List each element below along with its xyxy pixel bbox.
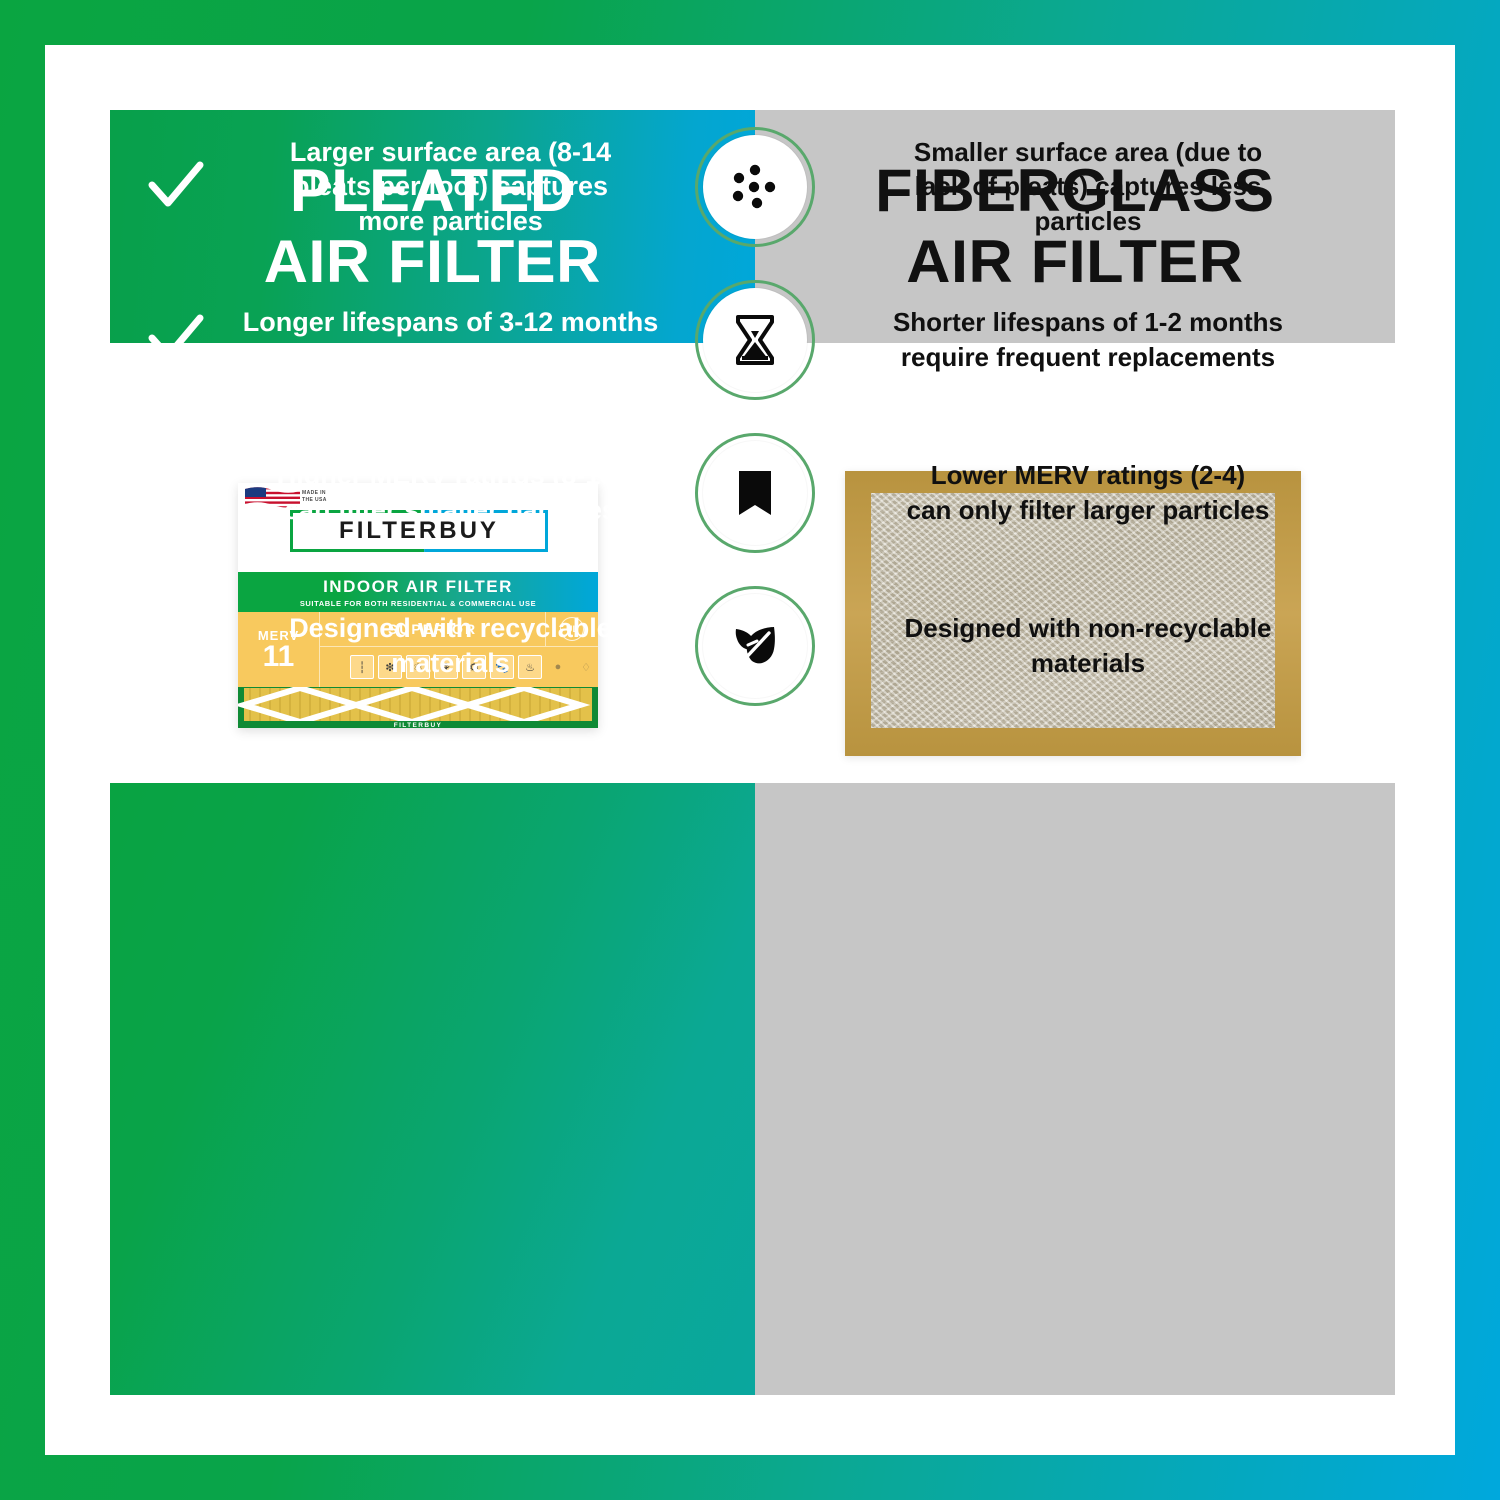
infographic-frame: PLEATED AIR FILTER FIBERGLASS AIR FILTER xyxy=(45,45,1455,1455)
row-1-fiberglass-text: Smaller surface area (due to lack of ple… xyxy=(914,135,1262,238)
row-4-pleated-cell: Designed with recyclable materials xyxy=(110,569,755,722)
checkmark-icon xyxy=(140,310,212,370)
row-4-fiberglass-cell: Designed with non-recyclable materials xyxy=(755,569,1395,722)
infographic-stage: PLEATED AIR FILTER FIBERGLASS AIR FILTER xyxy=(110,110,1395,1395)
hourglass-icon xyxy=(703,288,807,392)
row-4-pleated-text: Designed with recyclable materials xyxy=(212,611,755,680)
leaf-icon xyxy=(703,594,807,698)
comparison-column-fiberglass xyxy=(755,783,1395,1395)
row-3-pleated-cell: Higher MERV ratings (8-13) can filter sm… xyxy=(110,416,755,569)
row-2-pleated-cell: Longer lifespans of 3-12 months result i… xyxy=(110,263,755,416)
checkmark-icon xyxy=(140,616,212,676)
checkmark-icon xyxy=(140,157,212,217)
comparison-column-pleated xyxy=(110,783,755,1395)
row-1-icon-badge xyxy=(695,127,815,247)
row-2-pleated-text: Longer lifespans of 3-12 months result i… xyxy=(212,305,755,374)
row-1-fiberglass-cell: Smaller surface area (due to lack of ple… xyxy=(755,110,1395,263)
row-3-fiberglass-text: Lower MERV ratings (2-4) can only filter… xyxy=(907,458,1270,527)
row-3-icon-badge xyxy=(695,433,815,553)
row-1-pleated-text: Larger surface area (8-14 pleats per foo… xyxy=(212,135,755,239)
row-4-icon-badge xyxy=(695,586,815,706)
row-3-fiberglass-cell: Lower MERV ratings (2-4) can only filter… xyxy=(755,416,1395,569)
bookmark-icon xyxy=(703,441,807,545)
comparison-rows: Larger surface area (8-14 pleats per foo… xyxy=(110,110,1395,722)
row-2-icon-badge xyxy=(695,280,815,400)
row-3-pleated-text: Higher MERV ratings (8-13) can filter sm… xyxy=(212,458,755,527)
checkmark-icon xyxy=(140,463,212,523)
comparison-section xyxy=(110,783,1395,1395)
row-1-pleated-cell: Larger surface area (8-14 pleats per foo… xyxy=(110,110,755,263)
row-2-fiberglass-text: Shorter lifespans of 1-2 months require … xyxy=(893,305,1283,374)
row-2-fiberglass-cell: Shorter lifespans of 1-2 months require … xyxy=(755,263,1395,416)
particles-icon xyxy=(703,135,807,239)
row-4-fiberglass-text: Designed with non-recyclable materials xyxy=(905,611,1272,680)
svg-text:FILTERBUY: FILTERBUY xyxy=(394,722,443,728)
